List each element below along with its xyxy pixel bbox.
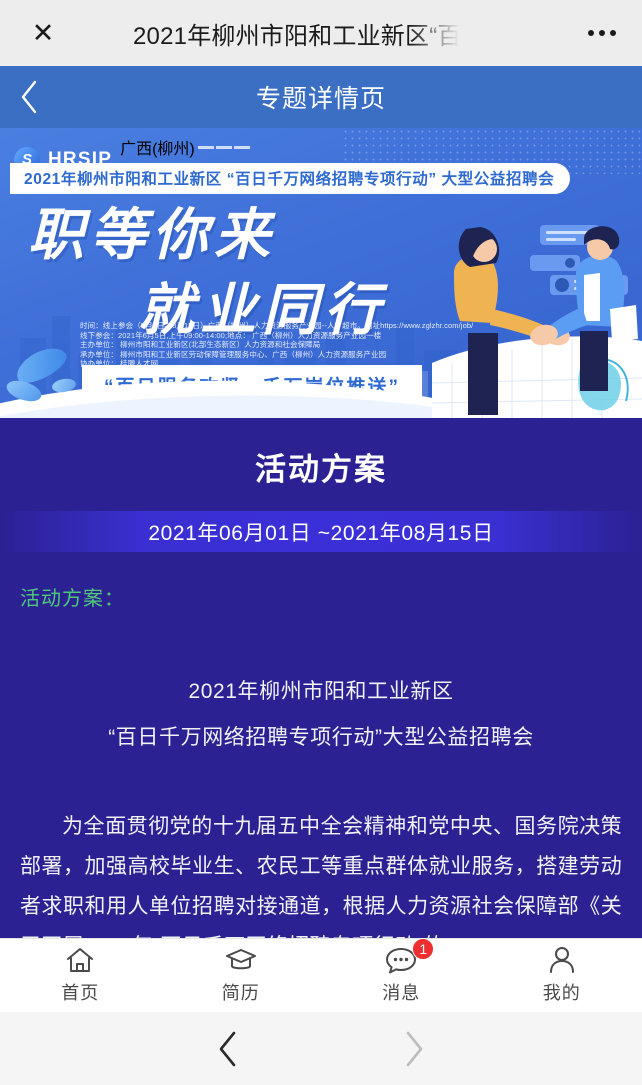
handshake-illustration [432,213,642,418]
date-range-band: 2021年06月01日 ~2021年08月15日 [0,511,642,552]
wave-decoration [0,334,500,418]
nav-forward-button [386,1021,442,1077]
tab-home[interactable]: 首页 [0,946,161,1005]
calligraphy-line-1: 职等你来 [28,190,488,271]
section-label: 活动方案： [20,582,642,611]
event-banner: S HRSIP 广西(柳州) 人力资源服务产业园 2021年柳州市阳和工业新区 … [0,128,642,418]
browser-footer-nav [0,1012,642,1085]
tab-resume[interactable]: 简历 [161,946,322,1005]
article-heading-lines: 2021年柳州市阳和工业新区 “百日千万网络招聘专项行动”大型公益招聘会 [0,669,642,761]
content-title: 活动方案 [0,418,642,489]
tab-messages-label: 消息 [382,979,420,1005]
page-title: 2021年柳州市阳和工业新区“百日 [133,0,463,66]
browser-chrome: ✕ 2021年柳州市阳和工业新区“百日 [0,0,642,66]
app-bar: 专题详情页 [0,66,642,128]
tab-home-label: 首页 [61,979,99,1005]
person-icon [548,946,576,974]
chat-bubble-icon: 1 [385,946,417,974]
nav-back-button[interactable] [200,1021,256,1077]
logo-decor-bars [198,146,250,149]
close-icon[interactable]: ✕ [12,20,74,47]
tab-profile[interactable]: 我的 [482,946,642,1005]
tab-profile-label: 我的 [543,979,581,1005]
app-bar-title: 专题详情页 [0,79,642,115]
home-icon [65,946,95,974]
logo-sub-line1: 广西(柳州) [120,135,195,159]
article-content: 活动方案 2021年06月01日 ~2021年08月15日 活动方案： 2021… [0,418,642,938]
bottom-tab-bar: 首页 简历 1 消息 [0,938,642,1012]
chevron-left-icon[interactable] [0,66,58,128]
ellipsis-icon[interactable] [588,0,616,66]
tab-messages[interactable]: 1 消息 [321,946,482,1005]
message-badge: 1 [412,938,434,960]
graduation-cap-icon [225,946,257,974]
tab-resume-label: 简历 [222,979,260,1005]
article-heading-line-1: 2021年柳州市阳和工业新区 [0,669,642,715]
article-heading-line-2: “百日千万网络招聘专项行动”大型公益招聘会 [0,715,642,761]
article-paragraph: 为全面贯彻党的十九届五中全会精神和党中央、国务院决策部署，加强高校毕业生、农民工… [20,807,622,938]
phone-viewport: ✕ 2021年柳州市阳和工业新区“百日 专题详情页 [0,0,642,1085]
